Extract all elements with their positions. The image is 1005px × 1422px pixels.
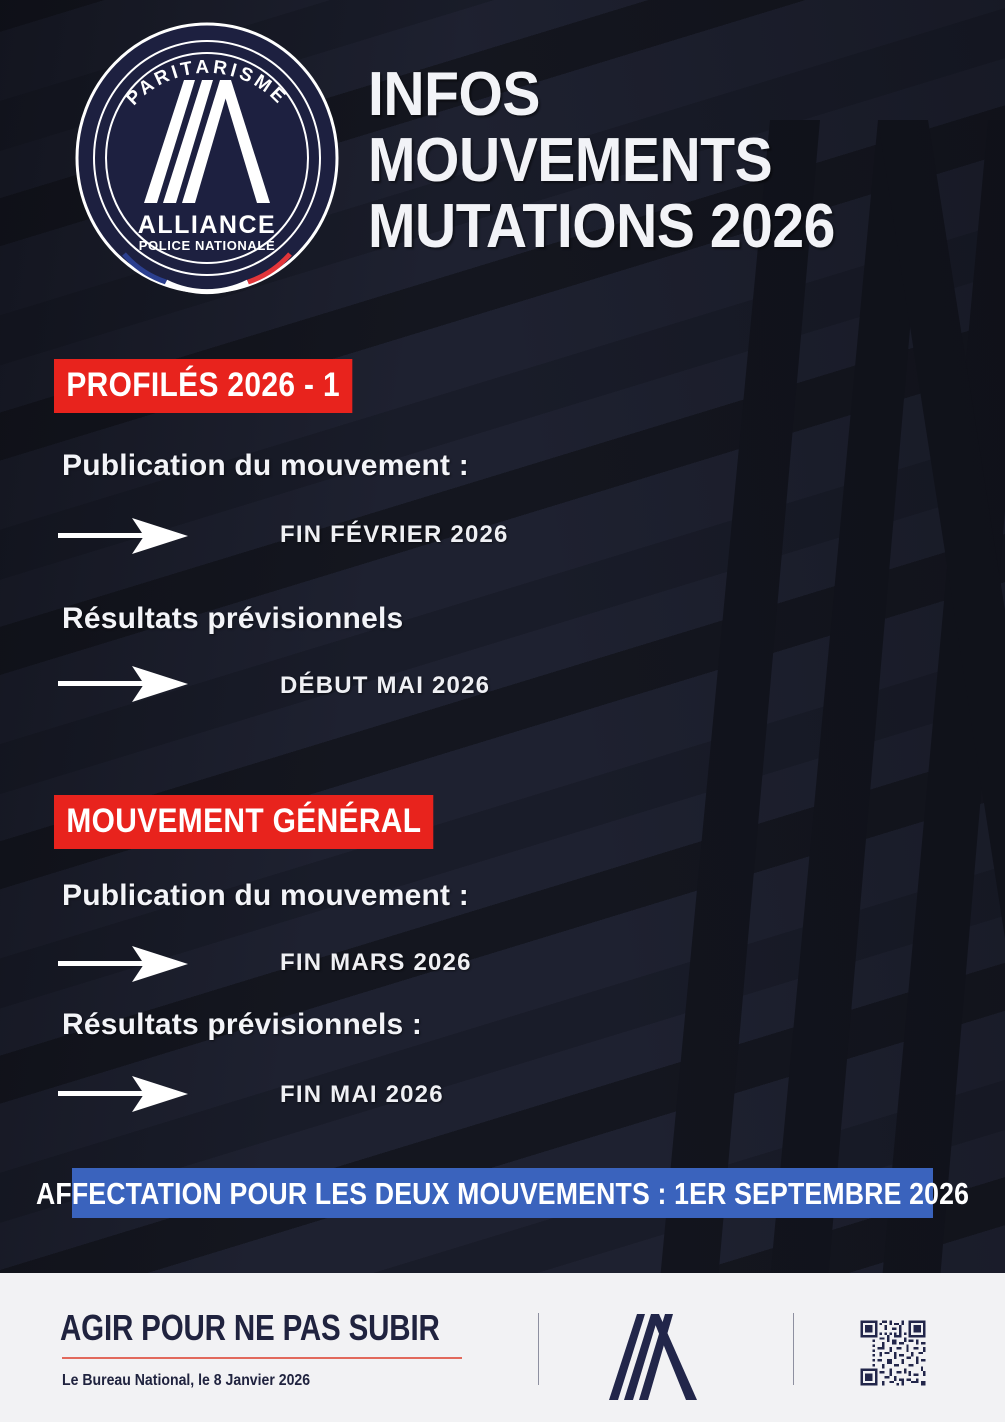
svg-text:POLICE NATIONALE: POLICE NATIONALE <box>139 238 275 253</box>
poster-header: PARITARISME ALLIANCE POLICE NATIONALE IN… <box>0 0 1005 320</box>
poster: PARITARISME ALLIANCE POLICE NATIONALE IN… <box>0 0 1005 1422</box>
svg-text:ALLIANCE: ALLIANCE <box>138 211 276 239</box>
affectation-banner: AFFECTATION POUR LES DEUX MOUVEMENTS : 1… <box>72 1168 933 1218</box>
label-resultats-general: Résultats prévisionnels : <box>62 1008 422 1042</box>
arrow-right-icon <box>58 940 190 986</box>
poster-title: INFOS MOUVEMENTS MUTATIONS 2026 <box>368 62 968 260</box>
title-line-2: MOUVEMENTS <box>368 128 920 194</box>
value-publication-profiles: FIN FÉVRIER 2026 <box>280 522 509 548</box>
section-badge-profiles: PROFILÉS 2026 - 1 <box>54 359 352 413</box>
footer-divider-1 <box>538 1313 539 1385</box>
section-badge-mouvement-general: MOUVEMENT GÉNÉRAL <box>54 795 434 849</box>
footer-slogan: AGIR POUR NE PAS SUBIR <box>60 1309 440 1347</box>
label-publication-profiles: Publication du mouvement : <box>62 449 469 483</box>
label-publication-general: Publication du mouvement : <box>62 879 469 913</box>
footer-divider-2 <box>793 1313 794 1385</box>
qr-code-icon[interactable] <box>858 1318 928 1388</box>
title-line-1: INFOS <box>368 62 920 128</box>
poster-footer: AGIR POUR NE PAS SUBIR Le Bureau Nationa… <box>0 1273 1005 1422</box>
footer-signature: Le Bureau National, le 8 Janvier 2026 <box>62 1371 310 1391</box>
arrow-right-icon <box>58 512 190 558</box>
alliance-seal-logo: PARITARISME ALLIANCE POLICE NATIONALE <box>62 18 352 298</box>
value-publication-general: FIN MARS 2026 <box>280 950 472 976</box>
footer-rule-divider <box>62 1357 462 1359</box>
arrow-right-icon <box>58 1070 190 1116</box>
title-line-3: MUTATIONS 2026 <box>368 194 920 260</box>
value-resultats-general: FIN MAI 2026 <box>280 1082 444 1108</box>
label-resultats-profiles: Résultats prévisionnels <box>62 602 403 636</box>
value-resultats-profiles: DÉBUT MAI 2026 <box>280 673 490 699</box>
arrow-right-icon <box>58 660 190 706</box>
alliance-a-mark-icon <box>605 1310 701 1402</box>
affectation-banner-text: AFFECTATION POUR LES DEUX MOUVEMENTS : 1… <box>36 1178 969 1209</box>
